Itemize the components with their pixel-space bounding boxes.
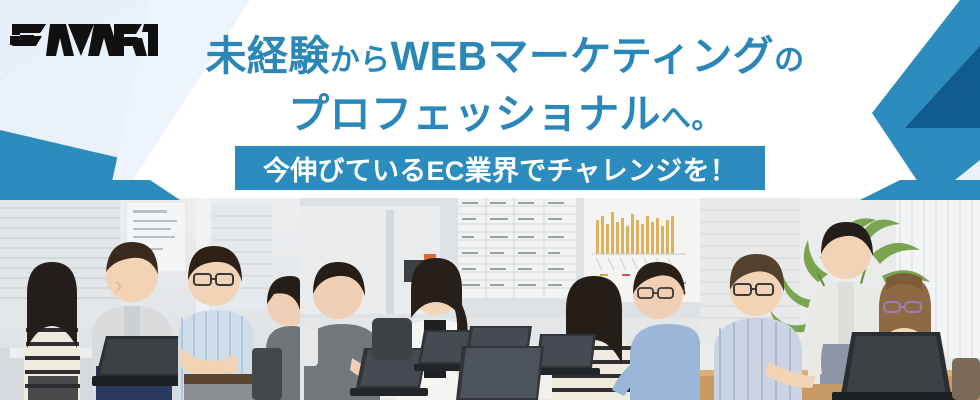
person-woman-left bbox=[24, 262, 80, 400]
laptop-foreground bbox=[832, 332, 960, 400]
photo-team-laptop-plants bbox=[700, 198, 980, 400]
photo-office-laptop-review bbox=[0, 198, 300, 400]
recruitment-hero-banner: 未経験からWEBマーケティングの プロフェッショナルへ。 今伸びているEC業界で… bbox=[0, 0, 980, 400]
projection-screen-table bbox=[458, 198, 576, 298]
savari-logo[interactable] bbox=[10, 18, 160, 62]
subbanner-text: 今伸びているEC業界でチャレンジを！ bbox=[263, 149, 737, 188]
savari-logo-mark bbox=[10, 18, 160, 62]
photo-2-illustration bbox=[300, 198, 700, 400]
photo-3-illustration bbox=[700, 198, 980, 400]
photo-1-illustration bbox=[0, 198, 300, 400]
photo-strip bbox=[0, 198, 980, 400]
subbanner: 今伸びているEC業界でチャレンジを！ bbox=[235, 146, 765, 190]
laptop-center bbox=[92, 336, 190, 386]
photo-meeting-room-presentation bbox=[300, 198, 700, 400]
